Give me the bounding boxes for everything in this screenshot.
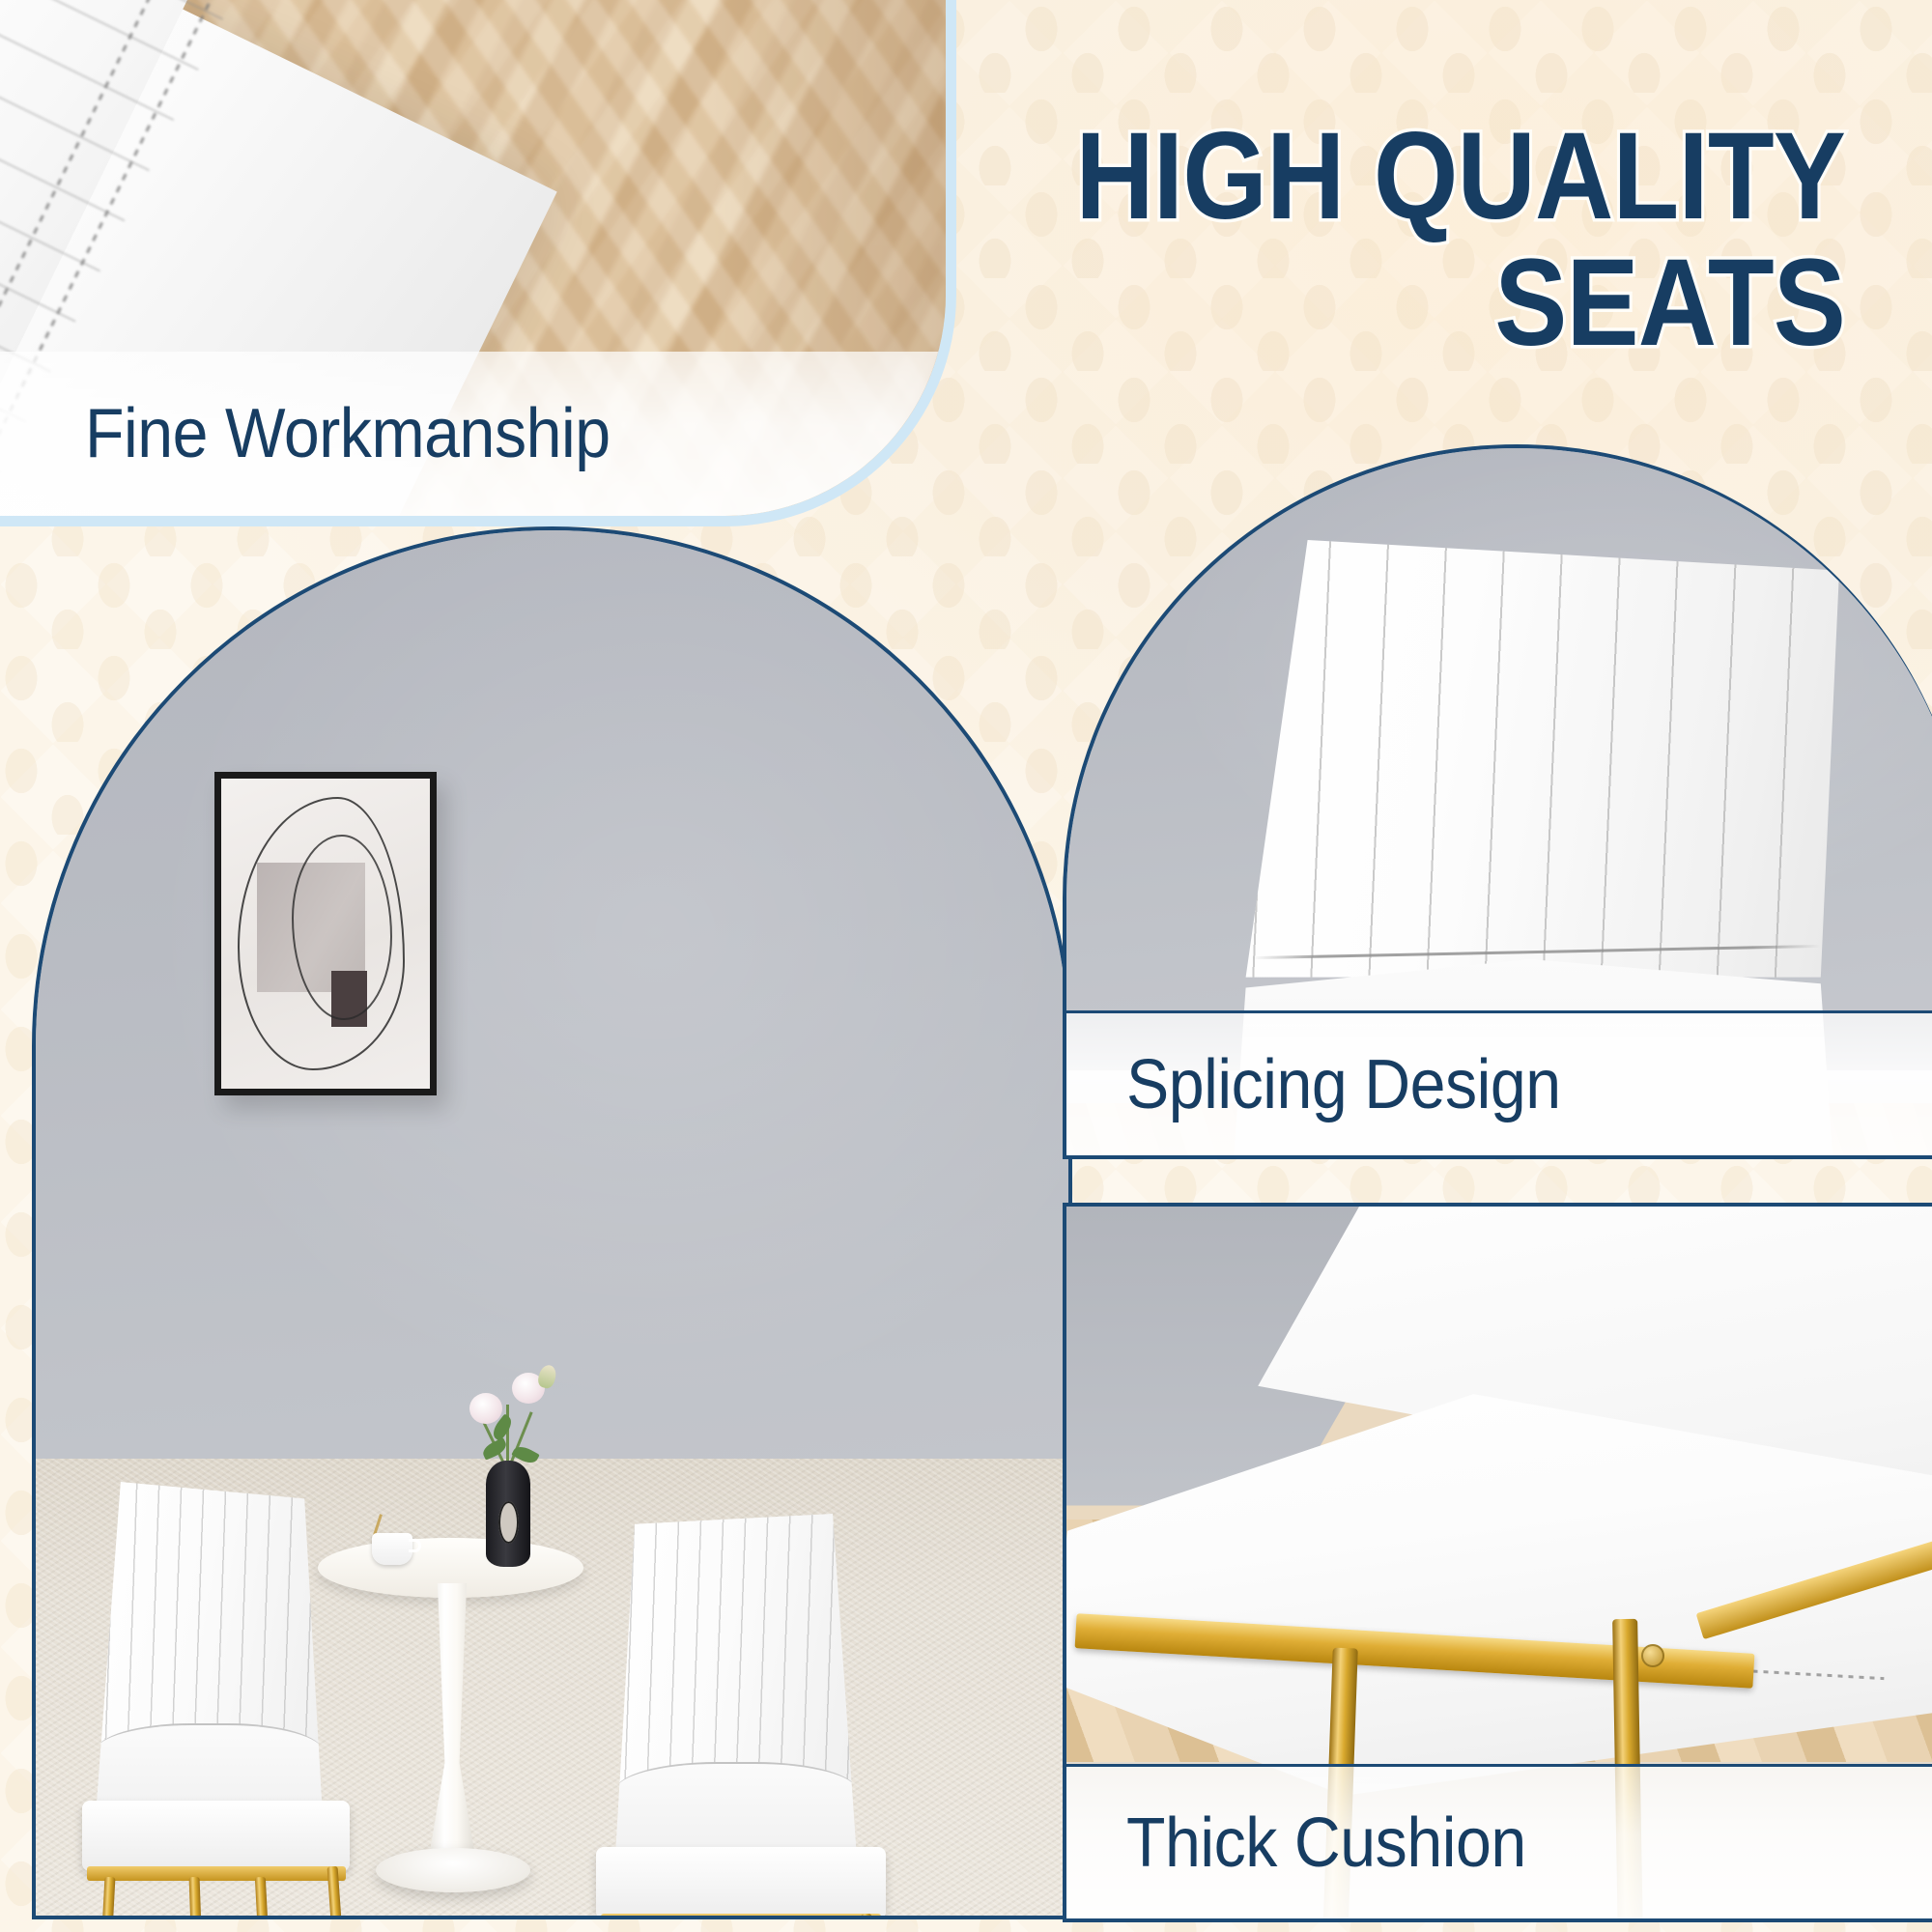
chair-left-seat-cushion — [82, 1801, 350, 1871]
headline-line-1: HIGH QUALITY — [986, 114, 1845, 241]
chair-right — [615, 1514, 857, 1919]
chairback-vertical-channels — [1221, 540, 1839, 978]
chair-right-backrest — [615, 1514, 857, 1859]
panel-thick-cushion[interactable]: Thick Cushion — [1063, 1203, 1932, 1922]
rose-bloom-1 — [469, 1393, 502, 1424]
panel-lifestyle-arch[interactable] — [32, 526, 1072, 1919]
caption-thick-cushion: Thick Cushion — [1126, 1804, 1526, 1883]
table-base — [376, 1848, 530, 1892]
caption-band-thick-cushion: Thick Cushion — [1066, 1764, 1932, 1918]
chair-left-gold-rail — [87, 1866, 346, 1881]
wall-art-frame — [214, 772, 437, 1095]
frame-screw — [1641, 1644, 1664, 1667]
chair-left-leg-2 — [188, 1877, 204, 1919]
caption-band-fine-workmanship: Fine Workmanship — [0, 352, 946, 516]
caption-splicing-design: Splicing Design — [1126, 1045, 1561, 1124]
caption-fine-workmanship: Fine Workmanship — [85, 394, 611, 473]
coffee-cup — [372, 1533, 412, 1565]
chair-right-seat-cushion — [596, 1847, 886, 1919]
chair-right-gold-rail — [601, 1914, 881, 1919]
coffee-cup-handle — [409, 1539, 421, 1552]
panel-fine-workmanship[interactable]: Fine Workmanship — [0, 0, 956, 526]
chair-right-splice-seam — [615, 1762, 857, 1859]
caption-band-splicing-design: Splicing Design — [1066, 1010, 1932, 1155]
page-title: HIGH QUALITY SEATS — [869, 114, 1845, 366]
headline-line-2: SEATS — [986, 241, 1845, 367]
chair-left-backrest — [96, 1482, 323, 1817]
vase-cutout — [498, 1501, 519, 1544]
chair-left-leg-3 — [255, 1877, 273, 1919]
panel-splicing-design[interactable]: Splicing Design — [1063, 444, 1932, 1159]
chair-left-leg-1 — [96, 1877, 115, 1919]
chair-left — [96, 1482, 323, 1919]
